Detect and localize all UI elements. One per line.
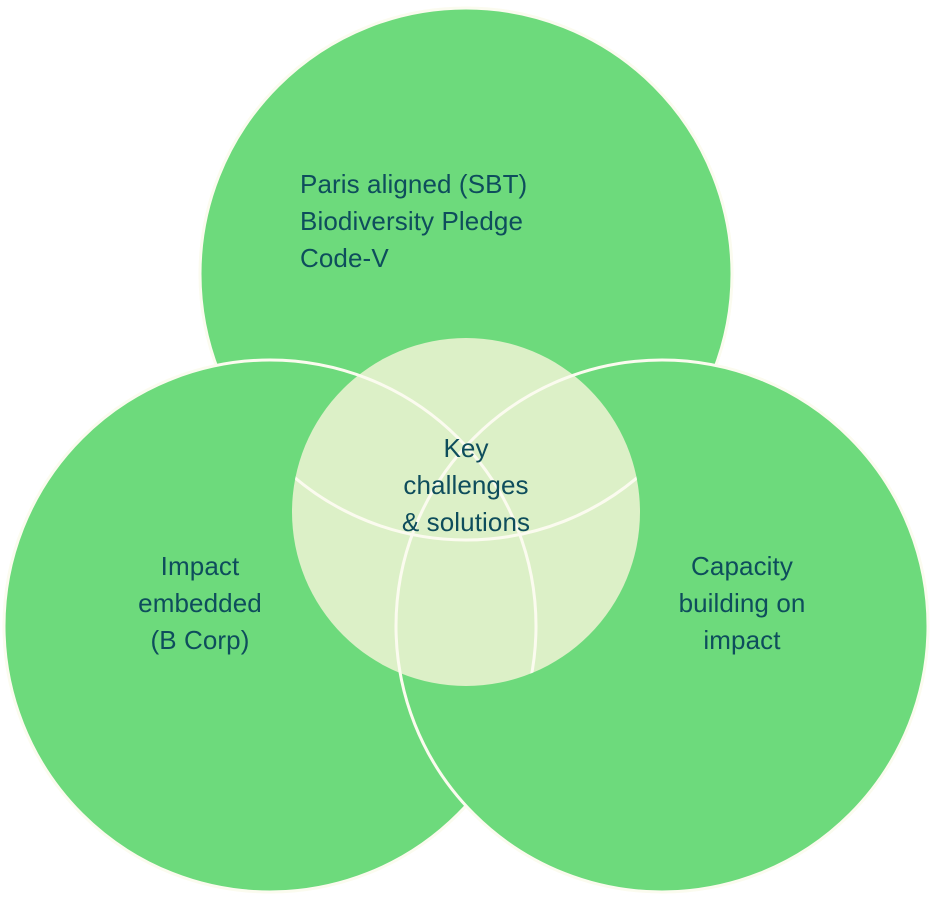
venn-canvas (0, 0, 930, 900)
venn-diagram: Paris aligned (SBT) Biodiversity Pledge … (0, 0, 930, 900)
